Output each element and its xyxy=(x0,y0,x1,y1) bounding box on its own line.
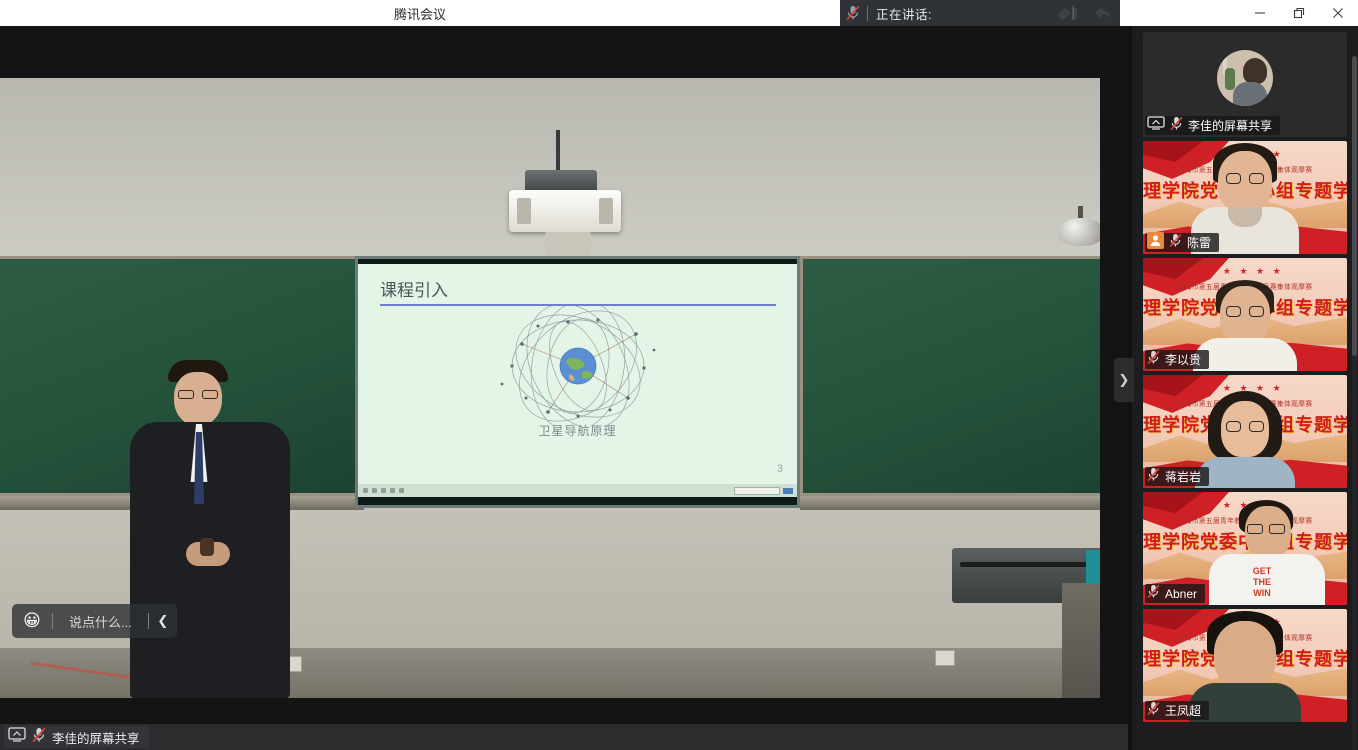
chevron-right-icon[interactable]: ❯ xyxy=(1114,358,1134,402)
meeting-window: 腾讯会议 正在讲话: xyxy=(0,0,1358,750)
satellite-orbit-diagram xyxy=(478,306,678,426)
strip-divider xyxy=(867,6,868,21)
mic-muted-icon xyxy=(32,727,46,748)
slide-taskbar xyxy=(358,484,797,497)
restore-button[interactable] xyxy=(1279,0,1318,26)
slide-content: 课程引入 xyxy=(358,264,797,497)
tile-badge: 李佳的屏幕共享 xyxy=(1145,116,1280,135)
titlebar-spacer xyxy=(1120,0,1240,26)
scrollbar-thumb[interactable] xyxy=(1352,56,1357,356)
mic-muted-icon xyxy=(1147,467,1160,487)
strip-icon-group xyxy=(1055,0,1114,26)
filmstrip-scrollbar[interactable] xyxy=(1352,56,1357,750)
presenter-figure xyxy=(130,360,290,698)
side-cabinet xyxy=(1062,583,1100,698)
tile-badge: 蒋岩岩 xyxy=(1145,467,1209,486)
projector-body xyxy=(509,190,621,232)
mic-muted-icon xyxy=(1147,350,1160,370)
participant-tile[interactable]: ★ ★ ★ ★ ★ 上海市第五届青年教师教学竞赛集体观摩赛 理学院党委中心组专题… xyxy=(1143,492,1347,605)
speaking-label: 正在讲话: xyxy=(876,4,932,23)
mic-muted-icon xyxy=(1147,584,1160,604)
mic-muted-icon xyxy=(1147,701,1160,721)
participant-tile[interactable]: ★ ★ ★ ★ ★ 上海市第五届青年教师教学竞赛集体观摩赛 理学院党委中心组专题… xyxy=(1143,375,1347,488)
projector-mount xyxy=(556,130,560,172)
avatar xyxy=(1217,50,1273,106)
participant-tile[interactable]: ★ ★ ★ ★ ★ 上海市第五届青年教师教学竞赛集体观摩赛 理学院党委中心组专题… xyxy=(1143,141,1347,254)
close-button[interactable] xyxy=(1319,0,1358,26)
host-icon xyxy=(1147,232,1164,254)
screen-share-icon xyxy=(8,727,26,747)
screen-share-icon xyxy=(1147,116,1165,135)
shared-screen-stage[interactable]: 课程引入 xyxy=(0,26,1132,750)
slide-title: 课程引入 xyxy=(380,276,448,301)
smiley-icon[interactable]: 😀 xyxy=(12,604,52,638)
participant-name: 李佳的屏幕共享 xyxy=(1188,117,1272,134)
speaking-status-strip: 正在讲话: xyxy=(840,0,1120,26)
projection-screen: 课程引入 xyxy=(355,256,800,508)
back-arrow-icon[interactable] xyxy=(1092,4,1114,22)
chalk-rail-right xyxy=(800,496,1100,510)
app-title: 腾讯会议 xyxy=(0,0,840,26)
bottom-status-bar: 李佳的屏幕共享 xyxy=(0,724,1132,750)
chat-input-bar[interactable]: 😀 说点什么... ❮ xyxy=(12,604,177,638)
shrink-window-icon[interactable] xyxy=(1055,4,1089,22)
mic-muted-icon xyxy=(1169,233,1182,253)
chevron-left-icon[interactable]: ❮ xyxy=(149,604,177,638)
participant-filmstrip[interactable]: 李佳的屏幕共享 ★ ★ ★ ★ ★ 上海市第五届青年教师教学竞赛集体观摩赛 理学… xyxy=(1132,26,1358,750)
participant-tile[interactable]: ★ ★ ★ ★ ★ 上海市第五届青年教师教学竞赛集体观摩赛 理学院党委中心组专题… xyxy=(1143,258,1347,371)
participant-tile[interactable]: 李佳的屏幕共享 xyxy=(1143,32,1347,137)
window-controls xyxy=(1240,0,1358,26)
share-status-pill: 李佳的屏幕共享 xyxy=(4,726,150,748)
projector-base xyxy=(545,232,591,258)
tile-badge: Abner xyxy=(1145,584,1205,603)
participant-name: Abner xyxy=(1165,587,1197,601)
mic-muted-icon[interactable] xyxy=(840,0,866,26)
tile-badge: 王凤超 xyxy=(1145,701,1209,720)
wall-outlet xyxy=(935,650,955,666)
slide-page-number: 3 xyxy=(777,463,783,475)
share-status-label: 李佳的屏幕共享 xyxy=(52,728,140,747)
shared-video: 课程引入 xyxy=(0,26,1132,750)
edge-banner: 第 xyxy=(1086,550,1100,584)
tile-badge: 李以贵 xyxy=(1145,350,1209,369)
mic-muted-icon xyxy=(1170,116,1183,136)
participant-name: 蒋岩岩 xyxy=(1165,468,1201,485)
participant-name: 李以贵 xyxy=(1165,351,1201,368)
participant-tile[interactable]: ★ ★ ★ ★ ★ 上海市第五届青年教师教学竞赛集体观摩赛 理学院党委中心组专题… xyxy=(1143,609,1347,722)
ceiling-camera-icon xyxy=(1058,206,1100,246)
minimize-button[interactable] xyxy=(1240,0,1279,26)
title-bar: 腾讯会议 正在讲话: xyxy=(0,0,1358,26)
participant-name: 陈雷 xyxy=(1187,234,1211,251)
participant-name: 王凤超 xyxy=(1165,702,1201,719)
chalkboard-right xyxy=(800,256,1100,496)
slide-caption: 卫星导航原理 xyxy=(358,422,797,439)
chat-input[interactable]: 说点什么... xyxy=(53,612,148,631)
tile-badge: 陈雷 xyxy=(1145,233,1219,252)
